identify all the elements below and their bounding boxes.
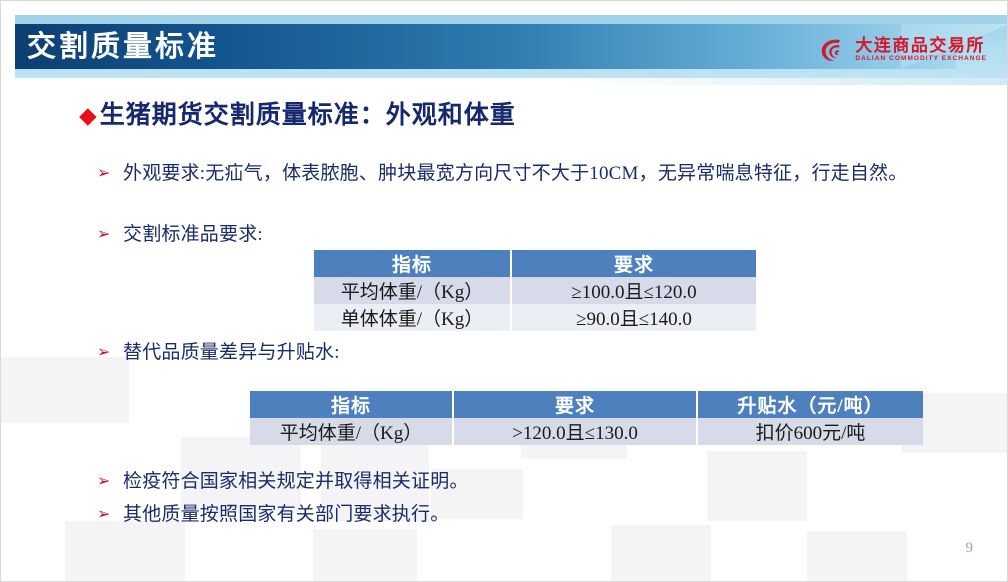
- arrow-bullet-icon: ➢: [97, 500, 123, 529]
- bullet-substitute-premium: ➢ 替代品质量差异与升贴水:: [97, 338, 340, 367]
- column-header-premium: 升贴水（元/吨）: [697, 391, 923, 418]
- table-row: 平均体重/（Kg） >120.0且≤130.0 扣价600元/吨: [250, 418, 923, 445]
- arrow-bullet-icon: ➢: [97, 159, 123, 188]
- slide-header: 交割质量标准 大连商品交易所 DALIAN COMMODITY EXCHANGE: [1, 11, 1008, 79]
- section-heading-text: 生猪期货交割质量标准：外观和体重: [100, 102, 516, 129]
- cell-premium: 扣价600元/吨: [697, 418, 923, 445]
- table-header-row: 指标 要求: [314, 250, 756, 277]
- arrow-bullet-icon: ➢: [97, 338, 123, 367]
- cell-requirement: ≥90.0且≤140.0: [511, 304, 756, 331]
- logo-name-en: DALIAN COMMODITY EXCHANGE: [855, 56, 987, 63]
- cell-indicator: 平均体重/（Kg）: [314, 277, 511, 304]
- page-number: 9: [966, 540, 974, 557]
- cell-requirement: >120.0且≤130.0: [453, 418, 697, 445]
- bullet-text: 检疫符合国家相关规定并取得相关证明。: [123, 467, 469, 496]
- table-row: 平均体重/（Kg） ≥100.0且≤120.0: [314, 277, 756, 304]
- column-header-requirement: 要求: [511, 250, 756, 277]
- diamond-bullet-icon: ◆: [79, 103, 98, 128]
- organization-logo: 大连商品交易所 DALIAN COMMODITY EXCHANGE: [818, 33, 987, 67]
- bullet-text: 交割标准品要求:: [123, 220, 263, 249]
- logo-text-block: 大连商品交易所 DALIAN COMMODITY EXCHANGE: [855, 37, 987, 63]
- cell-indicator: 平均体重/（Kg）: [250, 418, 453, 445]
- arrow-bullet-icon: ➢: [97, 467, 123, 496]
- cell-indicator: 单体体重/（Kg）: [314, 304, 511, 331]
- arrow-bullet-icon: ➢: [97, 220, 123, 249]
- table-header-row: 指标 要求 升贴水（元/吨）: [250, 391, 923, 418]
- column-header-indicator: 指标: [250, 391, 453, 418]
- dce-swirl-icon: [818, 35, 848, 65]
- page-title: 交割质量标准: [27, 27, 219, 67]
- column-header-requirement: 要求: [453, 391, 697, 418]
- bullet-text: 其他质量按照国家有关部门要求执行。: [123, 500, 449, 529]
- bullet-quarantine: ➢ 检疫符合国家相关规定并取得相关证明。: [97, 467, 469, 496]
- bullet-text: 替代品质量差异与升贴水:: [123, 338, 340, 367]
- bullet-standard-product: ➢ 交割标准品要求:: [97, 220, 263, 249]
- cell-requirement: ≥100.0且≤120.0: [511, 277, 756, 304]
- bullet-text: 外观要求:无疝气，体表脓胞、肿块最宽方向尺寸不大于10CM，无异常喘息特征，行走…: [123, 159, 907, 188]
- table-row: 单体体重/（Kg） ≥90.0且≤140.0: [314, 304, 756, 331]
- standard-product-table: 指标 要求 平均体重/（Kg） ≥100.0且≤120.0 单体体重/（Kg） …: [314, 250, 756, 331]
- section-heading: ◆生猪期货交割质量标准：外观和体重: [79, 95, 516, 131]
- logo-name-cn: 大连商品交易所: [855, 37, 987, 54]
- bullet-other-quality: ➢ 其他质量按照国家有关部门要求执行。: [97, 500, 449, 529]
- column-header-indicator: 指标: [314, 250, 511, 277]
- slide: 交割质量标准 大连商品交易所 DALIAN COMMODITY EXCHANGE…: [0, 0, 1008, 582]
- substitute-premium-table: 指标 要求 升贴水（元/吨） 平均体重/（Kg） >120.0且≤130.0 扣…: [250, 391, 923, 445]
- bullet-appearance-requirement: ➢ 外观要求:无疝气，体表脓胞、肿块最宽方向尺寸不大于10CM，无异常喘息特征，…: [97, 159, 967, 188]
